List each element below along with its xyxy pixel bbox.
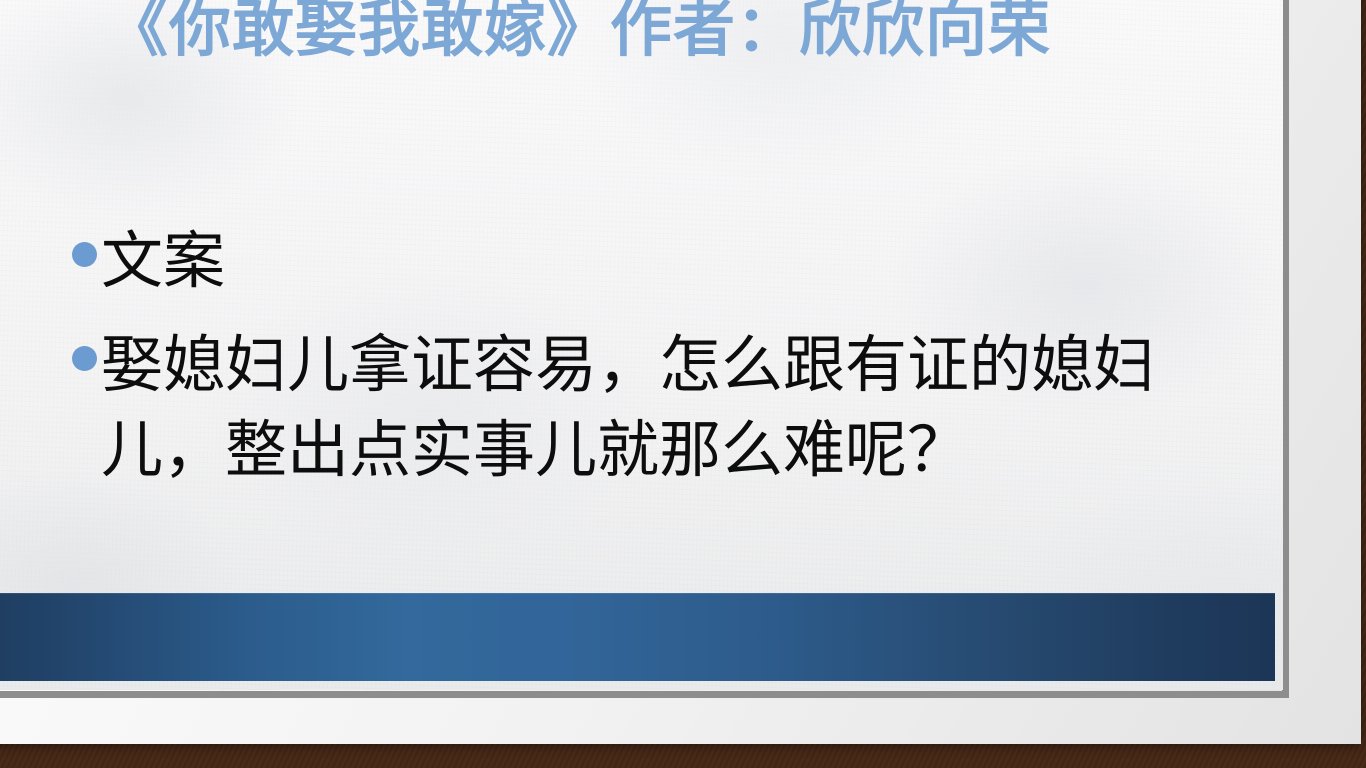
blue-dot-bullet-icon bbox=[72, 242, 97, 267]
bullet-text: 文案 bbox=[101, 220, 225, 306]
slide-title: 《你敢娶我敢嫁》作者：欣欣向荣 bbox=[106, 0, 1206, 65]
presentation-slide[interactable]: 《你敢娶我敢嫁》作者：欣欣向荣 文案 娶媳妇儿拿证容易，怎么跟有证的媳妇儿，整出… bbox=[0, 0, 1283, 690]
slide-body-content: 文案 娶媳妇儿拿证容易，怎么跟有证的媳妇儿，整出点实事儿就那么难呢？ bbox=[72, 220, 1252, 513]
list-item: 娶媳妇儿拿证容易，怎么跟有证的媳妇儿，整出点实事儿就那么难呢？ bbox=[72, 324, 1252, 495]
slide-frame-mat: 《你敢娶我敢嫁》作者：欣欣向荣 文案 娶媳妇儿拿证容易，怎么跟有证的媳妇儿，整出… bbox=[0, 0, 1361, 744]
bullet-text: 娶媳妇儿拿证容易，怎么跟有证的媳妇儿，整出点实事儿就那么难呢？ bbox=[101, 324, 1252, 495]
slide-bottom-accent-band bbox=[0, 593, 1275, 681]
blue-dot-bullet-icon bbox=[72, 346, 97, 371]
list-item: 文案 bbox=[72, 220, 1252, 306]
